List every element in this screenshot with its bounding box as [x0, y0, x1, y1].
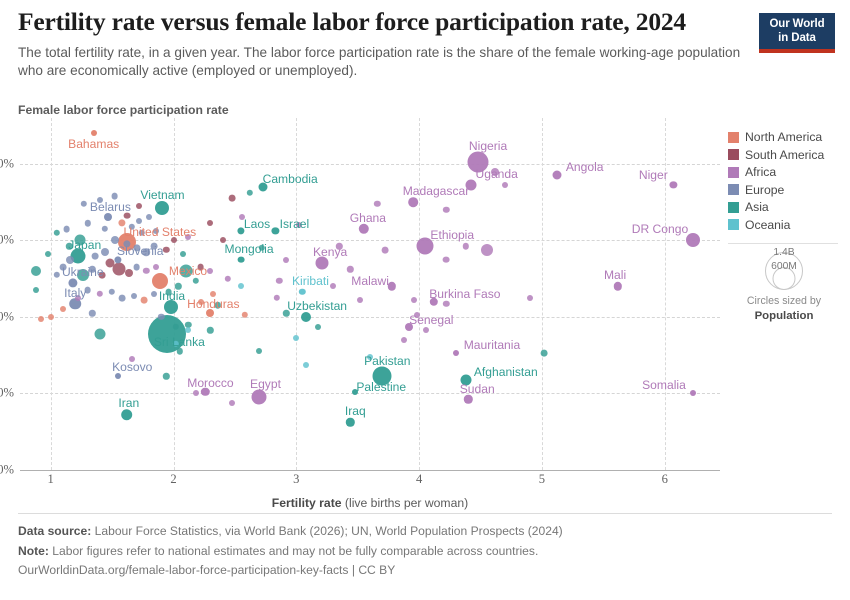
continent-legend: North AmericaSouth AmericaAfricaEuropeAs… [728, 130, 846, 235]
scatter-point[interactable] [163, 247, 169, 253]
gridline-horizontal [20, 317, 720, 318]
scatter-point[interactable] [197, 264, 204, 271]
scatter-point[interactable] [91, 130, 97, 136]
gridline-vertical [542, 118, 543, 470]
footer-source-text: Labour Force Statistics, via World Bank … [95, 524, 563, 538]
scatter-point[interactable] [443, 207, 449, 213]
gridline-vertical [296, 118, 297, 470]
scatter-point[interactable] [220, 237, 226, 243]
scatter-point[interactable] [105, 259, 114, 268]
scatter-point-label: Iran [118, 396, 139, 410]
chart-subtitle: The total fertility rate, in a given yea… [18, 44, 743, 82]
owid-logo[interactable]: Our World in Data [759, 13, 835, 53]
scatter-point[interactable] [198, 299, 204, 305]
scatter-point[interactable] [273, 295, 279, 301]
scatter-point-label: Cambodia [263, 172, 318, 186]
legend-item-asia[interactable]: Asia [728, 200, 846, 214]
scatter-point[interactable] [527, 295, 533, 301]
scatter-point[interactable] [460, 375, 471, 386]
gridline-vertical [174, 118, 175, 470]
scatter-point[interactable] [133, 264, 140, 271]
y-axis-tick-label: 0% [0, 463, 14, 478]
scatter-point[interactable] [164, 300, 178, 314]
scatter-point[interactable] [359, 224, 369, 234]
scatter-point[interactable] [113, 263, 126, 276]
legend-item-label: Africa [745, 165, 776, 179]
scatter-point[interactable] [179, 265, 192, 278]
legend-color-swatch [728, 149, 739, 160]
scatter-point[interactable] [180, 251, 186, 257]
scatter-point[interactable] [89, 266, 95, 272]
scatter-point[interactable] [165, 289, 172, 296]
scatter-point[interactable] [185, 234, 191, 240]
scatter-point[interactable] [68, 278, 77, 287]
size-legend-circles: 1.4B 600M [728, 248, 840, 290]
scatter-point[interactable] [239, 214, 245, 220]
scatter-point-label: Malawi [351, 274, 389, 288]
scatter-point-label: Morocco [187, 376, 233, 390]
gridline-vertical [419, 118, 420, 470]
x-axis-title-rest: (live births per woman) [342, 496, 469, 510]
scatter-point[interactable] [84, 220, 90, 226]
scatter-point[interactable] [417, 238, 434, 255]
gridline-horizontal [20, 164, 720, 165]
scatter-point[interactable] [81, 201, 87, 207]
scatter-point[interactable] [92, 252, 99, 259]
scatter-point-label: Bahamas [68, 137, 119, 151]
scatter-point-label: Iraq [345, 404, 366, 418]
scatter-point[interactable] [48, 314, 54, 320]
scatter-point[interactable] [259, 182, 268, 191]
scatter-point[interactable] [283, 310, 289, 316]
scatter-point-label: Laos [244, 217, 270, 231]
scatter-point[interactable] [136, 203, 142, 209]
scatter-point[interactable] [75, 235, 86, 246]
scatter-point[interactable] [276, 277, 282, 283]
scatter-point[interactable] [97, 197, 103, 203]
scatter-point[interactable] [229, 400, 235, 406]
x-axis-tick-label: 2 [170, 472, 176, 487]
scatter-point[interactable] [123, 212, 130, 219]
scatter-point[interactable] [206, 309, 214, 317]
scatter-point[interactable] [414, 312, 420, 318]
scatter-point[interactable] [315, 324, 321, 330]
gridline-horizontal [20, 393, 720, 394]
scatter-point[interactable] [541, 350, 548, 357]
scatter-point-label: Mauritania [464, 338, 520, 352]
chart-header: Fertility rate versus female labor force… [18, 8, 758, 81]
scatter-point[interactable] [453, 350, 459, 356]
scatter-point[interactable] [75, 295, 81, 301]
legend-item-south-america[interactable]: South America [728, 148, 846, 162]
scatter-point[interactable] [77, 269, 89, 281]
size-label-small: 600M [771, 261, 797, 272]
legend-item-label: South America [745, 148, 824, 162]
x-axis-tick-label: 5 [539, 472, 545, 487]
scatter-point[interactable] [481, 244, 493, 256]
scatter-point-label: DR Congo [632, 222, 688, 236]
scatter-point[interactable] [259, 245, 265, 251]
scatter-point[interactable] [299, 289, 305, 295]
y-axis-tick-label: 40% [0, 309, 14, 324]
scatter-point[interactable] [256, 348, 262, 354]
legend-item-label: North America [745, 130, 822, 144]
size-caption-bold: Population [728, 309, 840, 324]
footer-divider [18, 513, 832, 514]
scatter-point[interactable] [224, 275, 230, 281]
scatter-point[interactable] [272, 227, 279, 234]
owid-logo-line2: in Data [759, 32, 835, 46]
scatter-point[interactable] [330, 283, 336, 289]
x-axis-title: Fertility rate (live births per woman) [20, 496, 720, 510]
scatter-point[interactable] [66, 243, 72, 249]
scatter-point[interactable] [146, 214, 152, 220]
scatter-point[interactable] [463, 243, 469, 249]
legend-color-swatch [728, 184, 739, 195]
scatter-point[interactable] [94, 329, 105, 340]
scatter-plot-area: 0%20%40%60%80%123456BahamasNigeriaUganda… [20, 118, 720, 470]
scatter-point[interactable] [121, 409, 133, 421]
scatter-point[interactable] [129, 356, 135, 362]
scatter-point[interactable] [155, 201, 169, 215]
scatter-point[interactable] [101, 248, 109, 256]
scatter-point-label: Kosovo [112, 360, 152, 374]
scatter-point[interactable] [464, 395, 472, 403]
scatter-point-label: Afghanistan [474, 365, 538, 379]
scatter-point[interactable] [45, 251, 51, 257]
scatter-point-label: Madagascar [403, 184, 470, 198]
scatter-point[interactable] [502, 182, 508, 188]
scatter-point[interactable] [136, 218, 142, 224]
scatter-point[interactable] [54, 272, 60, 278]
scatter-point[interactable] [670, 181, 677, 188]
scatter-point[interactable] [125, 269, 133, 277]
scatter-point[interactable] [150, 243, 157, 250]
scatter-point[interactable] [175, 283, 181, 289]
scatter-point[interactable] [54, 230, 60, 236]
scatter-point[interactable] [143, 248, 151, 256]
scatter-point[interactable] [201, 387, 209, 395]
owid-logo-line1: Our World [769, 18, 824, 30]
scatter-point[interactable] [31, 266, 41, 276]
scatter-point[interactable] [193, 390, 199, 396]
scatter-point-label: Ghana [350, 211, 386, 225]
scatter-point[interactable] [84, 287, 91, 294]
scatter-point[interactable] [283, 257, 289, 263]
scatter-point[interactable] [138, 230, 144, 236]
page-title: Fertility rate versus female labor force… [18, 8, 758, 37]
scatter-point[interactable] [153, 264, 159, 270]
x-axis-tick-label: 6 [662, 472, 668, 487]
scatter-point[interactable] [89, 310, 95, 316]
scatter-point[interactable] [152, 273, 168, 289]
scatter-point[interactable] [373, 367, 392, 386]
scatter-point[interactable] [215, 302, 221, 308]
legend-color-swatch [728, 132, 739, 143]
scatter-point[interactable] [104, 213, 112, 221]
scatter-point[interactable] [38, 316, 44, 322]
scatter-point[interactable] [614, 282, 622, 290]
legend-item-label: Asia [745, 200, 769, 214]
scatter-point[interactable] [374, 201, 380, 207]
scatter-point-label: Mongolia [225, 242, 274, 256]
scatter-point[interactable] [131, 293, 137, 299]
scatter-point[interactable] [102, 226, 108, 232]
scatter-point[interactable] [316, 257, 329, 270]
scatter-point[interactable] [207, 220, 213, 226]
scatter-point[interactable] [109, 289, 115, 295]
scatter-point[interactable] [185, 327, 191, 333]
legend-item-north-america[interactable]: North America [728, 130, 846, 144]
scatter-point[interactable] [336, 243, 342, 249]
scatter-point[interactable] [408, 197, 418, 207]
scatter-point[interactable] [381, 247, 388, 254]
y-axis-tick-label: 60% [0, 233, 14, 248]
scatter-point[interactable] [133, 244, 140, 251]
scatter-point[interactable] [119, 294, 126, 301]
y-axis-title: Female labor force participation rate [18, 103, 229, 117]
scatter-point[interactable] [411, 297, 417, 303]
scatter-point-label: Burkina Faso [429, 287, 500, 301]
size-legend-caption: Circles sized by Population [728, 295, 840, 324]
scatter-point[interactable] [99, 271, 106, 278]
scatter-point[interactable] [430, 297, 438, 305]
scatter-point[interactable] [207, 268, 213, 274]
size-label-large: 1.4B [773, 247, 794, 258]
scatter-point-label: Israel [280, 217, 310, 231]
scatter-point[interactable] [60, 264, 67, 271]
legend-color-swatch [728, 202, 739, 213]
legend-color-swatch [728, 167, 739, 178]
scatter-point[interactable] [141, 296, 148, 303]
scatter-point[interactable] [60, 306, 66, 312]
x-axis-tick-label: 4 [416, 472, 422, 487]
gridline-vertical [51, 118, 52, 470]
scatter-point-label: Mali [604, 268, 626, 282]
scatter-point[interactable] [443, 300, 449, 306]
y-axis-tick-label: 80% [0, 156, 14, 171]
scatter-point[interactable] [207, 327, 213, 333]
scatter-point[interactable] [686, 233, 700, 247]
scatter-point-label: Kiribati [292, 274, 329, 288]
scatter-point[interactable] [468, 152, 489, 173]
x-axis-title-bold: Fertility rate [272, 496, 342, 510]
chart-page: Fertility rate versus female labor force… [0, 0, 850, 600]
scatter-point[interactable] [237, 227, 244, 234]
legend-item-africa[interactable]: Africa [728, 165, 846, 179]
scatter-point[interactable] [357, 297, 363, 303]
scatter-point[interactable] [690, 390, 696, 396]
scatter-point[interactable] [33, 287, 39, 293]
scatter-point[interactable] [115, 373, 121, 379]
scatter-point[interactable] [465, 179, 476, 190]
scatter-point[interactable] [171, 237, 177, 243]
scatter-point[interactable] [129, 224, 135, 230]
scatter-point[interactable] [153, 228, 159, 234]
scatter-point[interactable] [367, 354, 373, 360]
y-axis-tick-label: 20% [0, 386, 14, 401]
scatter-point[interactable] [296, 222, 302, 228]
gridline-vertical [665, 118, 666, 470]
footer-source-label: Data source: [18, 524, 91, 538]
size-legend: 1.4B 600M Circles sized by Population [728, 248, 840, 324]
scatter-point[interactable] [347, 266, 353, 272]
scatter-point[interactable] [346, 418, 354, 426]
scatter-point[interactable] [111, 236, 119, 244]
scatter-point[interactable] [552, 171, 561, 180]
scatter-point-label: Vietnam [140, 188, 184, 202]
scatter-point-label: Egypt [250, 377, 281, 391]
scatter-point[interactable] [66, 256, 74, 264]
scatter-point-label: Angola [566, 160, 604, 174]
scatter-point[interactable] [405, 323, 413, 331]
footer-note-text: Labor figures refer to national estimate… [52, 544, 538, 558]
scatter-point-label: Niger [639, 168, 668, 182]
scatter-point[interactable] [293, 335, 299, 341]
scatter-point[interactable] [151, 291, 157, 297]
scatter-point[interactable] [238, 283, 244, 289]
scatter-point[interactable] [176, 348, 182, 354]
legend-item-label: Oceania [745, 218, 790, 232]
scatter-point[interactable] [229, 195, 236, 202]
scatter-point[interactable] [118, 220, 125, 227]
scatter-point[interactable] [246, 189, 252, 195]
scatter-point[interactable] [143, 268, 149, 274]
gridline-horizontal [20, 470, 720, 471]
x-axis-tick-label: 1 [48, 472, 54, 487]
scatter-point-label: Honduras [187, 297, 239, 311]
scatter-point[interactable] [252, 390, 267, 405]
scatter-point[interactable] [491, 168, 499, 176]
legend-divider [728, 243, 838, 244]
scatter-point[interactable] [63, 226, 70, 233]
x-axis-tick-label: 3 [293, 472, 299, 487]
size-caption-text: Circles sized by [747, 295, 821, 307]
footer-source: Data source: Labour Force Statistics, vi… [18, 522, 798, 542]
scatter-point[interactable] [303, 362, 309, 368]
legend-item-oceania[interactable]: Oceania [728, 218, 846, 232]
scatter-point[interactable] [301, 312, 311, 322]
legend-item-label: Europe [745, 183, 784, 197]
scatter-point[interactable] [163, 373, 169, 379]
chart-footer: Data source: Labour Force Statistics, vi… [18, 522, 798, 581]
scatter-point[interactable] [238, 256, 245, 263]
legend-color-swatch [728, 219, 739, 230]
legend-item-europe[interactable]: Europe [728, 183, 846, 197]
scatter-point[interactable] [192, 277, 198, 283]
scatter-point[interactable] [443, 256, 450, 263]
scatter-point[interactable] [210, 291, 216, 297]
footer-note-label: Note: [18, 544, 49, 558]
scatter-point[interactable] [352, 389, 358, 395]
scatter-point[interactable] [388, 282, 396, 290]
footer-url[interactable]: OurWorldinData.org/female-labor-force-pa… [18, 561, 798, 581]
scatter-point[interactable] [423, 327, 429, 333]
scatter-point[interactable] [401, 337, 407, 343]
scatter-point[interactable] [111, 193, 118, 200]
footer-note: Note: Labor figures refer to national es… [18, 542, 798, 562]
scatter-point[interactable] [97, 291, 103, 297]
